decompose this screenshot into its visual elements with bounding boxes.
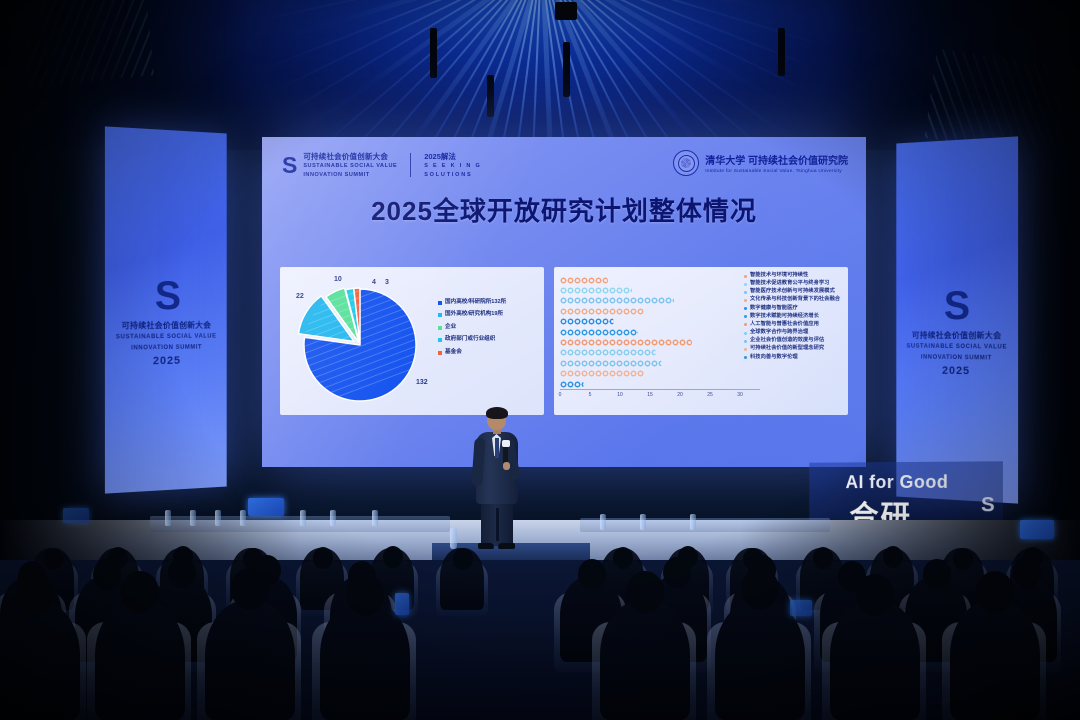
bar-chart-x-axis: 051015202530 [560, 389, 760, 390]
category-label: 人工智能与普惠社会价值应用 [750, 321, 819, 328]
category-swatch-icon [744, 323, 747, 326]
bar [560, 308, 644, 315]
category-swatch-icon [744, 299, 747, 302]
bar-row [560, 348, 738, 358]
side-led-panel-right: S 可持续社会价值创新大会 SUSTAINABLE SOCIAL VALUE I… [896, 136, 1018, 503]
axis-tick-label: 25 [707, 392, 713, 398]
audience-phone-screen [790, 600, 812, 616]
audience-head [453, 548, 473, 570]
axis-tick-label: 5 [589, 392, 592, 398]
audience-phone-screen [248, 498, 284, 516]
audience-head [313, 547, 333, 569]
bar-category-item: 人工智能与普惠社会价值应用 [744, 321, 844, 328]
bar-chart-card: 051015202530 智能技术与环境可持续性智能技术促进教育公平与终身学习智… [554, 267, 848, 415]
bar-category-item: 企业社会价值创造的效度与评估 [744, 337, 844, 344]
summit-year: 2025 [942, 365, 970, 377]
category-label: 可持续社会价值的新型理念研究 [750, 345, 824, 352]
side-led-panel-left: S 可持续社会价值创新大会 SUSTAINABLE SOCIAL VALUE I… [105, 126, 227, 493]
summit-brand-lockup: S 可持续社会价值创新大会 SUSTAINABLE SOCIAL VALUE I… [282, 151, 482, 180]
axis-tick-label: 10 [617, 392, 623, 398]
audience-head [346, 574, 384, 616]
pie-value-label: 3 [385, 279, 389, 286]
summit-name-cn: 可持续社会价值创新大会 [303, 151, 397, 162]
pie-value-label: 4 [372, 279, 376, 286]
axis-tick-label: 15 [647, 392, 653, 398]
institute-name-cn: 清华大学 可持续社会价值研究院 [705, 152, 848, 167]
bar-category-item: 智能技术与环境可持续性 [744, 272, 844, 279]
bar-row [560, 358, 738, 368]
water-bottle [372, 510, 378, 526]
legend-item: 国外高校/研究机构19所 [438, 311, 542, 317]
theme-en-1: S E E K I N G [424, 162, 481, 171]
legend-item: 基金会 [438, 349, 542, 355]
category-swatch-icon [744, 356, 747, 359]
category-swatch-icon [744, 275, 747, 278]
pie-value-label: 10 [334, 276, 342, 283]
axis-tick-label: 0 [559, 392, 562, 398]
bar [560, 349, 656, 356]
category-label: 文化传承与科技创新背景下的社会融合 [750, 296, 840, 303]
legend-label: 政府部门或行业组织 [445, 336, 495, 342]
water-bottle [600, 514, 606, 530]
bar [560, 318, 614, 325]
summit-logo-mark: S [944, 290, 968, 322]
legend-swatch-icon [438, 351, 442, 355]
audience-head [626, 571, 664, 613]
summit-name-en-2: INNOVATION SUMMIT [131, 344, 202, 354]
legend-label: 企业 [445, 324, 456, 330]
water-bottle [190, 510, 196, 526]
bar-row [560, 275, 738, 285]
category-swatch-icon [744, 315, 747, 318]
legend-item: 政府部门或行业组织 [438, 336, 542, 342]
summit-name-en-2: INNOVATION SUMMIT [303, 171, 397, 180]
summit-logo-mark: S [155, 280, 179, 312]
audience-head [741, 568, 779, 610]
pie-value-label: 132 [416, 379, 428, 386]
summit-logo-mark: S [282, 157, 296, 174]
audience-head [813, 547, 833, 569]
category-label: 智能技术与环境可持续性 [750, 272, 808, 279]
slide-title: 2025全球开放研究计划整体情况 [262, 191, 866, 228]
bar [560, 297, 674, 304]
bar-category-item: 科技向善与数字伦理 [744, 354, 844, 361]
bar-category-item: 智能医疗技术创新与可持续发展模式 [744, 288, 844, 295]
water-bottle [215, 510, 221, 526]
audience-head [856, 574, 894, 616]
audience-member [95, 600, 185, 720]
category-swatch-icon [744, 348, 747, 351]
theme-cn: 2025解法 [424, 151, 481, 162]
theme-en-2: SOLUTIONS [424, 171, 481, 180]
bar-row [560, 306, 738, 316]
conference-hall-photo: S 可持续社会价值创新大会 SUSTAINABLE SOCIAL VALUE I… [0, 0, 1080, 720]
bar-row [560, 369, 738, 379]
brand-divider [410, 153, 411, 177]
audience-phone-screen [63, 508, 89, 523]
bar [560, 277, 608, 284]
audience-head [953, 548, 973, 570]
bar-row [560, 296, 738, 306]
summit-name-cn: 可持续社会价值创新大会 [912, 330, 1002, 341]
bar-row [560, 317, 738, 327]
legend-label: 国外高校/研究机构19所 [445, 311, 503, 317]
bar [560, 370, 644, 377]
category-label: 企业社会价值创造的效度与评估 [750, 337, 824, 344]
audience-head [231, 568, 269, 610]
legend-swatch-icon [438, 338, 442, 342]
audience-phone-screen [395, 593, 409, 615]
bar [560, 381, 584, 388]
bar-category-item: 智能技术促进教育公平与终身学习 [744, 280, 844, 287]
bar-category-item: 数字技术赋能可持续经济增长 [744, 313, 844, 320]
audience-seating [0, 488, 1080, 720]
category-label: 智能医疗技术创新与可持续发展模式 [750, 288, 835, 295]
press-table [580, 518, 830, 532]
audience-member [830, 600, 920, 720]
pie-chart-legend: 国内高校/科研院所132所国外高校/研究机构19所企业政府部门或行业组织基金会 [438, 299, 542, 361]
summit-name-en-2: INNOVATION SUMMIT [921, 354, 992, 364]
legend-swatch-icon [438, 301, 442, 305]
slide-header: S 可持续社会价值创新大会 SUSTAINABLE SOCIAL VALUE I… [262, 149, 866, 183]
category-swatch-icon [744, 307, 747, 310]
axis-tick-label: 30 [737, 392, 743, 398]
institute-name-en: Institute for Sustainable Social Value, … [705, 169, 848, 174]
microphone-icon [503, 444, 508, 464]
water-bottle [300, 510, 306, 526]
water-bottle [240, 510, 246, 526]
audience-head [168, 557, 196, 588]
bar-chart [560, 275, 738, 389]
summit-name-en-1: SUSTAINABLE SOCIAL VALUE [303, 162, 397, 171]
audience-member [715, 600, 805, 720]
bar-category-item: 文化传承与科技创新背景下的社会融合 [744, 296, 844, 303]
water-bottle [165, 510, 171, 526]
legend-swatch-icon [438, 326, 442, 330]
category-swatch-icon [744, 332, 747, 335]
audience-member [205, 600, 295, 720]
category-label: 数字健康与智能医疗 [750, 305, 798, 312]
category-swatch-icon [744, 340, 747, 343]
audience-head [613, 547, 633, 569]
bar [560, 360, 662, 367]
bar-category-item: 可持续社会价值的新型理念研究 [744, 345, 844, 352]
presentation-screen: S 可持续社会价值创新大会 SUSTAINABLE SOCIAL VALUE I… [262, 137, 866, 467]
category-swatch-icon [744, 291, 747, 294]
bar-category-item: 数字健康与智能医疗 [744, 305, 844, 312]
category-label: 科技向善与数字伦理 [750, 354, 798, 361]
bar-category-item: 全球数字合作与跨界治理 [744, 329, 844, 336]
audience-member [320, 600, 410, 720]
tsinghua-seal-icon [673, 150, 699, 176]
tsinghua-brand-lockup: 清华大学 可持续社会价值研究院 Institute for Sustainabl… [673, 150, 848, 176]
bar [560, 329, 638, 336]
audience-head [43, 548, 63, 570]
category-label: 智能技术促进教育公平与终身学习 [750, 280, 829, 287]
water-bottle [690, 514, 696, 530]
pie-chart-card: 132221043 国内高校/科研院所132所国外高校/研究机构19所企业政府部… [280, 267, 544, 415]
bar-row [560, 327, 738, 337]
summit-name-cn: 可持续社会价值创新大会 [122, 320, 212, 331]
audience-head [663, 557, 691, 588]
axis-tick-label: 20 [677, 392, 683, 398]
water-bottle [640, 514, 646, 530]
category-label: 数字技术赋能可持续经济增长 [750, 313, 819, 320]
legend-label: 基金会 [445, 349, 462, 355]
audience-head [16, 574, 54, 616]
audience-head [578, 559, 606, 590]
legend-swatch-icon [438, 313, 442, 317]
audience-head [976, 571, 1014, 613]
summit-name-en-1: SUSTAINABLE SOCIAL VALUE [907, 343, 1008, 353]
audience-head [1013, 557, 1041, 588]
audience-head [93, 559, 121, 590]
bar [560, 339, 692, 346]
water-bottle [330, 510, 336, 526]
bar-row [560, 337, 738, 347]
legend-item: 企业 [438, 324, 542, 330]
audience-member [950, 600, 1040, 720]
audience-phone-screen [1020, 520, 1054, 539]
audience-head [383, 546, 403, 568]
bar [560, 287, 632, 294]
audience-head [121, 571, 159, 613]
legend-label: 国内高校/科研院所132所 [445, 299, 506, 305]
summit-name-en-1: SUSTAINABLE SOCIAL VALUE [116, 333, 217, 343]
category-label: 全球数字合作与跨界治理 [750, 329, 808, 336]
audience-head [883, 546, 903, 568]
audience-member [600, 600, 690, 720]
category-swatch-icon [744, 283, 747, 286]
pie-value-label: 22 [296, 293, 304, 300]
summit-year: 2025 [153, 355, 181, 367]
bar-row [560, 285, 738, 295]
audience-head [923, 559, 951, 590]
pie-chart: 132221043 [288, 273, 438, 411]
legend-item: 国内高校/科研院所132所 [438, 299, 542, 305]
bar-chart-category-labels: 智能技术与环境可持续性智能技术促进教育公平与终身学习智能医疗技术创新与可持续发展… [744, 272, 844, 362]
audience-member [0, 600, 80, 720]
bar-row [560, 379, 738, 389]
